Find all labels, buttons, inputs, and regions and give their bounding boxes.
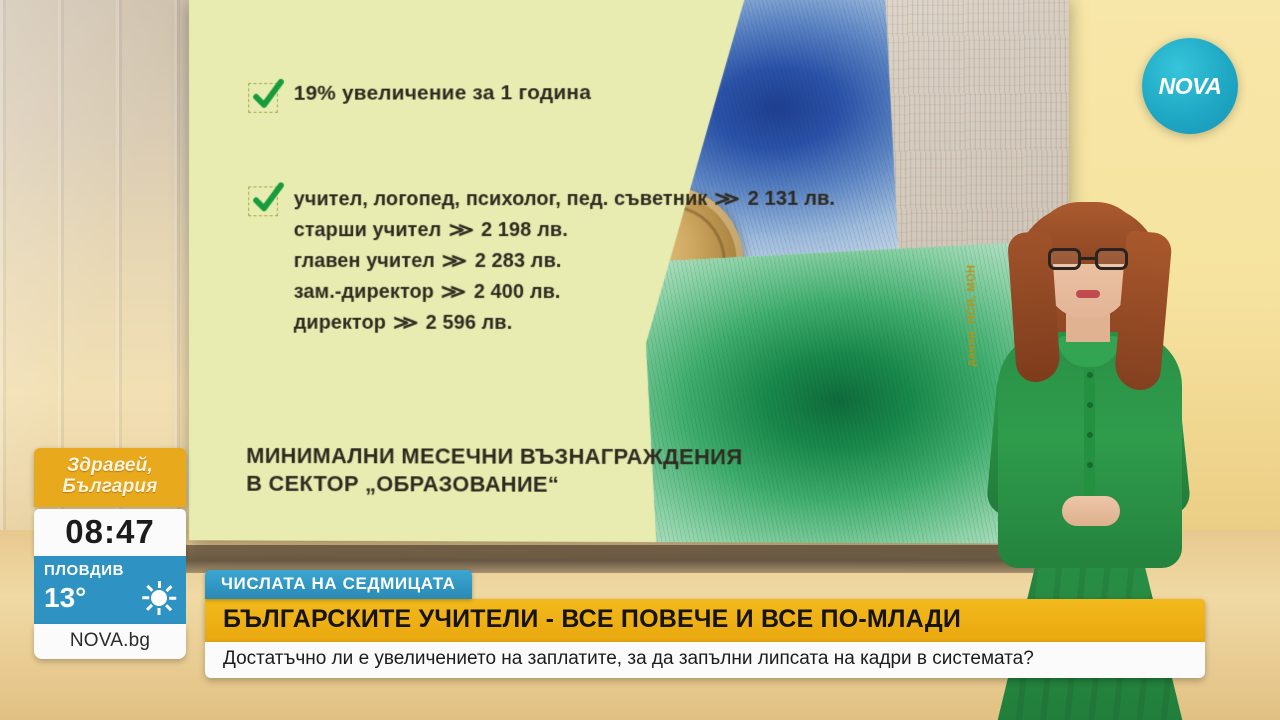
weather-city: ПЛОВДИВ xyxy=(44,562,176,579)
list-item: директор ≫ 2 596 лв. xyxy=(294,307,835,338)
website-url: NOVA.bg xyxy=(70,630,150,651)
bullet-row-increase: 19% увеличение за 1 година xyxy=(248,79,887,113)
show-title-line1: Здравей, xyxy=(40,456,180,477)
sun-ray xyxy=(146,585,153,592)
glasses-icon xyxy=(1048,248,1128,270)
role-label: главен учител xyxy=(294,246,435,276)
nova-logo: NOVA xyxy=(1142,38,1238,134)
show-title-line2: България xyxy=(40,477,180,498)
role-label: директор xyxy=(294,307,386,337)
list-item: зам.-директор ≫ 2 400 лв. xyxy=(294,277,835,308)
infographic-title-line1: МИНИМАЛНИ МЕСЕЧНИ ВЪЗНАГРАЖДЕНИЯ xyxy=(246,442,742,472)
presenter-dress-button xyxy=(1087,372,1093,378)
nova-logo-text: NOVA xyxy=(1159,73,1222,100)
list-item: учител, логопед, психолог, пед. съветник… xyxy=(294,184,835,215)
presenter-dress-button xyxy=(1087,432,1093,438)
sun-icon xyxy=(142,581,176,615)
bullet-group: 19% увеличение за 1 година учител, логоп… xyxy=(248,79,887,338)
list-item: старши учител ≫ 2 198 лв. xyxy=(294,215,835,246)
infographic-title-line2: В СЕКТОР „ОБРАЗОВАНИЕ“ xyxy=(246,470,742,500)
presenter-dress-button xyxy=(1087,462,1093,468)
checkmark-icon xyxy=(248,186,278,216)
arrow-icon: ≫ xyxy=(393,309,419,338)
bullet-row-salaries: учител, логопед, психолог, пед. съветник… xyxy=(248,184,887,339)
glasses-lens-left xyxy=(1048,248,1081,270)
sun-ray xyxy=(169,597,176,600)
presenter-hands xyxy=(1062,496,1120,526)
presenter-dress-button xyxy=(1087,402,1093,408)
weather-temperature: 13° xyxy=(44,584,86,612)
presenter-dress-placket xyxy=(1084,346,1095,506)
arrow-icon: ≫ xyxy=(441,279,467,308)
amount-value: 2 400 лв. xyxy=(474,277,561,307)
broadcast-stage: данни: НСИ, МОН 19% увеличение за 1 годи… xyxy=(0,0,1280,720)
ticker-text: Достатъчно ли е увеличението на заплатит… xyxy=(205,642,1205,678)
list-item: главен учител ≫ 2 283 лв. xyxy=(294,246,835,277)
role-label: зам.-директор xyxy=(294,277,434,307)
checkmark-icon xyxy=(248,83,278,113)
clock-time: 08:47 xyxy=(65,513,154,550)
arrow-icon: ≫ xyxy=(448,217,474,246)
role-label: старши учител xyxy=(294,215,442,245)
weather-widget: ПЛОВДИВ 13° xyxy=(34,556,186,624)
role-label: учител, логопед, психолог, пед. съветник xyxy=(294,184,708,215)
sun-ray xyxy=(158,581,161,588)
sun-ray xyxy=(165,604,172,611)
sun-core xyxy=(151,590,167,606)
infographic-screen: данни: НСИ, МОН 19% увеличение за 1 годи… xyxy=(189,0,1069,544)
headline-banner: БЪЛГАРСКИТЕ УЧИТЕЛИ - ВСЕ ПОВЕЧЕ И ВСЕ П… xyxy=(205,599,1205,642)
widget-stack: Здравей, България 08:47 ПЛОВДИВ 13° xyxy=(34,448,186,659)
clock-widget: 08:47 xyxy=(34,509,186,556)
presenter-lips xyxy=(1076,290,1100,298)
arrow-icon: ≫ xyxy=(715,186,741,215)
weather-row: 13° xyxy=(44,581,176,615)
show-logo: Здравей, България xyxy=(34,448,186,507)
amount-value: 2 283 лв. xyxy=(475,246,562,276)
amount-value: 2 131 лв. xyxy=(748,184,835,215)
sun-ray xyxy=(142,597,149,600)
sun-ray xyxy=(165,585,172,592)
sun-ray xyxy=(158,608,161,615)
amount-value: 2 198 лв. xyxy=(481,215,568,245)
infographic-title: МИНИМАЛНИ МЕСЕЧНИ ВЪЗНАГРАЖДЕНИЯ В СЕКТО… xyxy=(246,442,742,501)
salary-list: учител, логопед, психолог, пед. съветник… xyxy=(294,184,835,339)
glasses-bridge xyxy=(1081,257,1095,260)
sun-ray xyxy=(146,604,153,611)
website-widget: NOVA.bg xyxy=(34,624,186,659)
kicker-badge: ЧИСЛАТА НА СЕДМИЦАТА xyxy=(205,570,472,599)
amount-value: 2 596 лв. xyxy=(426,307,513,337)
increase-text: 19% увеличение за 1 година xyxy=(294,80,591,106)
arrow-icon: ≫ xyxy=(442,248,468,277)
glasses-lens-right xyxy=(1095,248,1128,270)
lower-third: ЧИСЛАТА НА СЕДМИЦАТА БЪЛГАРСКИТЕ УЧИТЕЛИ… xyxy=(205,570,1205,678)
